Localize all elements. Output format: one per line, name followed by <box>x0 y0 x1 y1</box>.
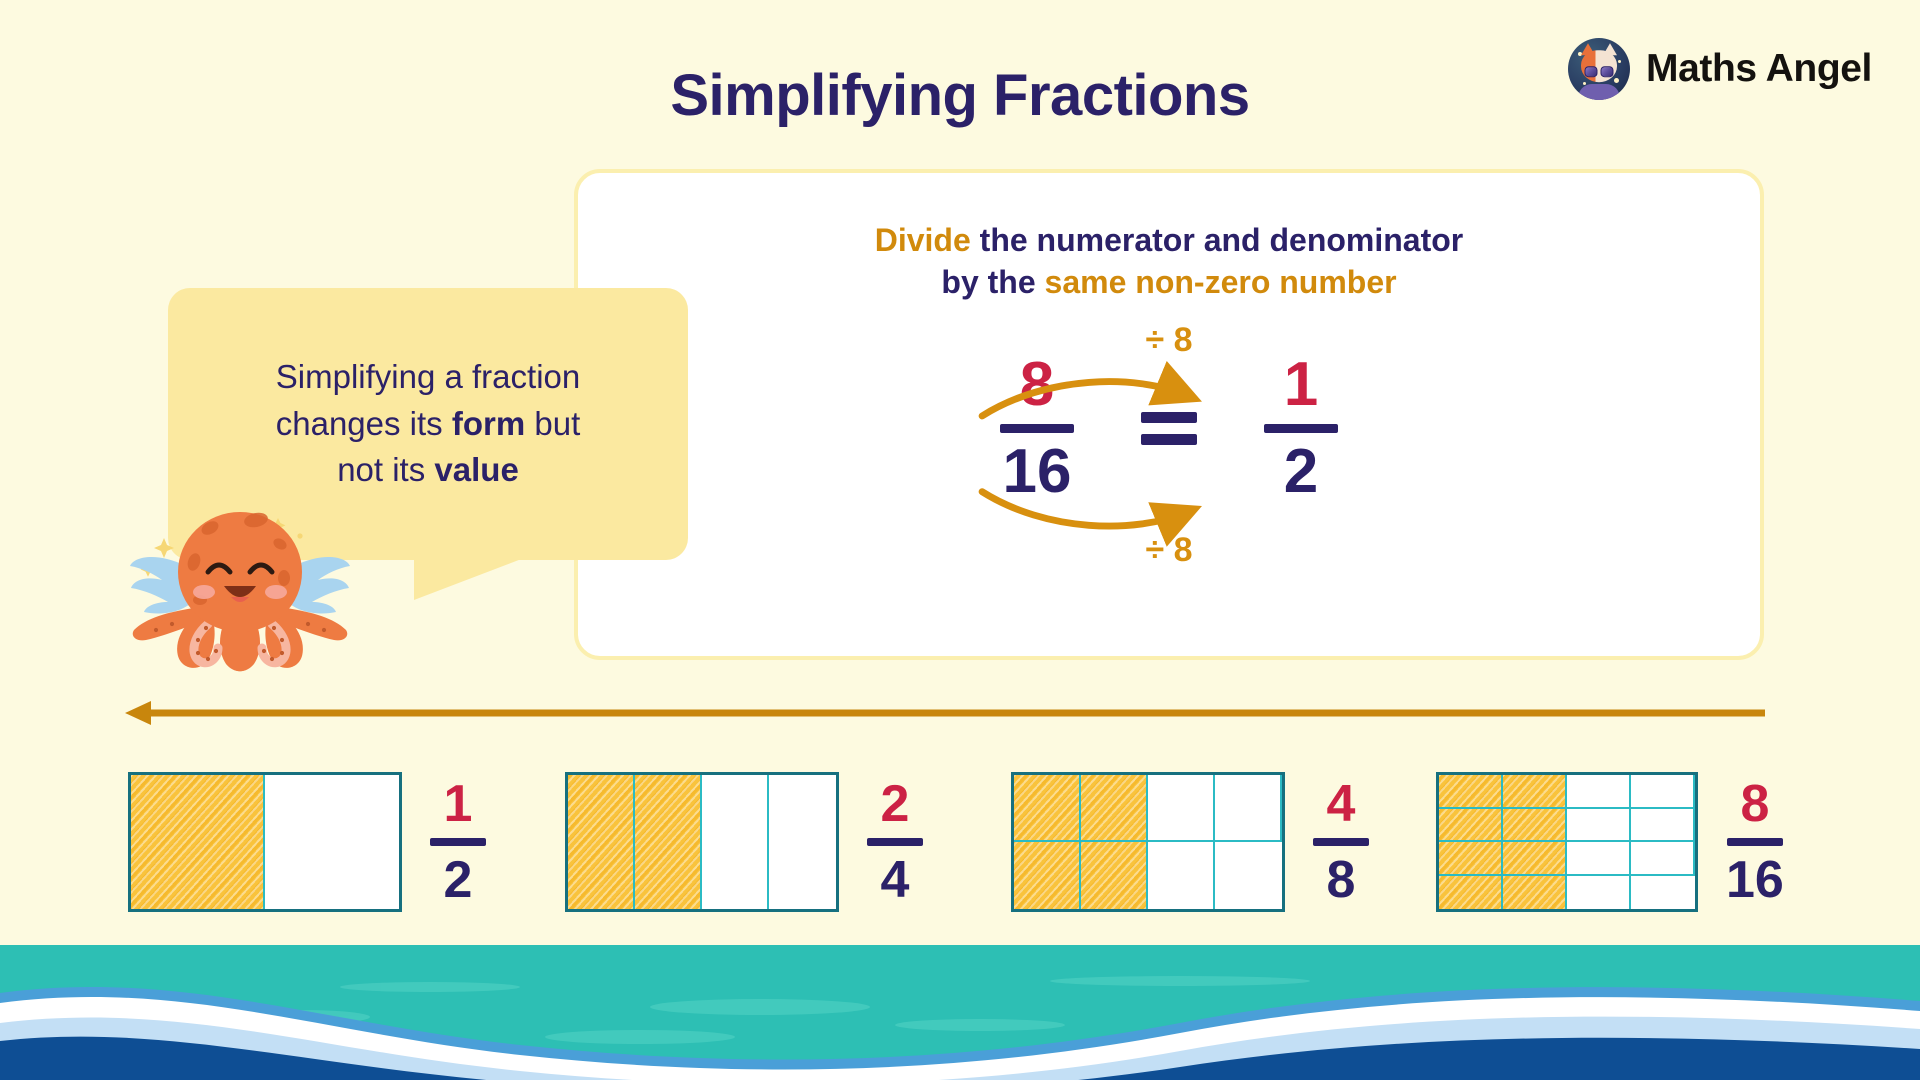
heading-line1-rest: the numerator and denominator <box>971 222 1463 258</box>
model-cell <box>1215 842 1282 909</box>
bar-model-2-4 <box>565 772 839 912</box>
model-cell <box>1439 775 1503 809</box>
model-cell <box>1503 842 1567 876</box>
speech-line-2: changes its form but <box>204 401 652 448</box>
model-cell <box>769 775 836 909</box>
model-group-4-8: 4 8 <box>1011 772 1369 912</box>
speech-bubble-tail <box>414 558 524 600</box>
model-cell <box>1631 809 1695 843</box>
model-label-1-2: 1 2 <box>430 778 486 906</box>
model-cell <box>1215 775 1282 842</box>
same-non-zero-keyword: same non-zero number <box>1045 264 1397 300</box>
model-cell <box>1014 842 1081 909</box>
speech-line2-post: but <box>525 405 580 442</box>
model-fraction-bar <box>867 838 923 846</box>
model-numerator: 2 <box>881 778 910 830</box>
model-cell <box>1503 809 1567 843</box>
fraction-right-denominator: 2 <box>1284 442 1318 502</box>
model-cell <box>1567 809 1631 843</box>
speech-keyword-form: form <box>452 405 525 442</box>
speech-line3-pre: not its <box>337 451 434 488</box>
model-cell <box>1439 876 1503 910</box>
fraction-left-denominator: 16 <box>1003 442 1072 502</box>
ocean-wave-decoration <box>0 945 1920 1080</box>
fraction-left-bar <box>1000 424 1074 433</box>
fraction-left-numerator: 8 <box>1020 355 1054 415</box>
model-cell <box>1081 842 1148 909</box>
model-group-2-4: 2 4 <box>565 772 923 912</box>
speech-line-3: not its value <box>204 447 652 494</box>
model-cell <box>1631 842 1695 876</box>
model-cell <box>131 775 265 909</box>
divide-keyword: Divide <box>875 222 971 258</box>
model-cell <box>1439 809 1503 843</box>
model-cell <box>1148 842 1215 909</box>
octopus-angel-mascot <box>128 500 378 680</box>
model-group-8-16: 8 16 <box>1436 772 1784 912</box>
concept-heading-line-2: by the same non-zero number <box>578 261 1760 303</box>
speech-keyword-value: value <box>434 451 518 488</box>
concept-card: Divide the numerator and denominator by … <box>574 169 1764 660</box>
cat-mascot-logo-icon <box>1568 38 1630 100</box>
model-denominator: 8 <box>1327 854 1356 906</box>
heading-line2-lead: by the <box>941 264 1044 300</box>
model-denominator: 4 <box>881 854 910 906</box>
fraction-right: 1 2 <box>1247 355 1355 501</box>
model-fraction-bar <box>430 838 486 846</box>
model-denominator: 16 <box>1726 854 1784 906</box>
model-label-4-8: 4 8 <box>1313 778 1369 906</box>
brand-name: Maths Angel <box>1646 47 1872 91</box>
model-cell <box>1631 876 1695 910</box>
model-cell <box>1014 775 1081 842</box>
model-cell <box>568 775 635 909</box>
flow-arrow-left <box>125 700 1765 726</box>
bar-model-8-16 <box>1436 772 1698 912</box>
model-cell <box>702 775 769 909</box>
model-cell <box>1631 775 1695 809</box>
model-fraction-bar <box>1313 838 1369 846</box>
model-label-2-4: 2 4 <box>867 778 923 906</box>
model-cell <box>1567 842 1631 876</box>
model-fraction-bar <box>1727 838 1783 846</box>
equation-row: 8 16 1 2 <box>578 355 1760 501</box>
model-cell <box>1503 775 1567 809</box>
model-numerator: 8 <box>1740 778 1769 830</box>
fraction-right-numerator: 1 <box>1284 355 1318 415</box>
concept-heading: Divide the numerator and denominator by … <box>578 219 1760 303</box>
speech-line-1: Simplifying a fraction <box>204 354 652 401</box>
model-numerator: 4 <box>1327 778 1356 830</box>
model-cell <box>265 775 399 909</box>
model-denominator: 2 <box>444 854 473 906</box>
fraction-models-row: 1 2 2 4 4 8 <box>0 772 1920 932</box>
bar-model-1-2 <box>128 772 402 912</box>
model-label-8-16: 8 16 <box>1726 778 1784 906</box>
brand-logo: Maths Angel <box>1568 38 1872 100</box>
model-cell <box>1148 775 1215 842</box>
model-numerator: 1 <box>444 778 473 830</box>
fraction-left: 8 16 <box>983 355 1091 501</box>
equals-sign <box>1091 412 1247 445</box>
divide-by-8-bottom-label: ÷ 8 <box>1145 531 1192 570</box>
model-cell <box>1503 876 1567 910</box>
speech-line2-pre: changes its <box>276 405 452 442</box>
model-cell <box>1567 775 1631 809</box>
bar-model-4-8 <box>1011 772 1285 912</box>
model-cell <box>1439 842 1503 876</box>
concept-heading-line-1: Divide the numerator and denominator <box>578 219 1760 261</box>
model-cell <box>635 775 702 909</box>
divide-by-8-top-label: ÷ 8 <box>1145 321 1192 360</box>
fraction-right-bar <box>1264 424 1338 433</box>
model-group-1-2: 1 2 <box>128 772 486 912</box>
model-cell <box>1567 876 1631 910</box>
model-cell <box>1081 775 1148 842</box>
